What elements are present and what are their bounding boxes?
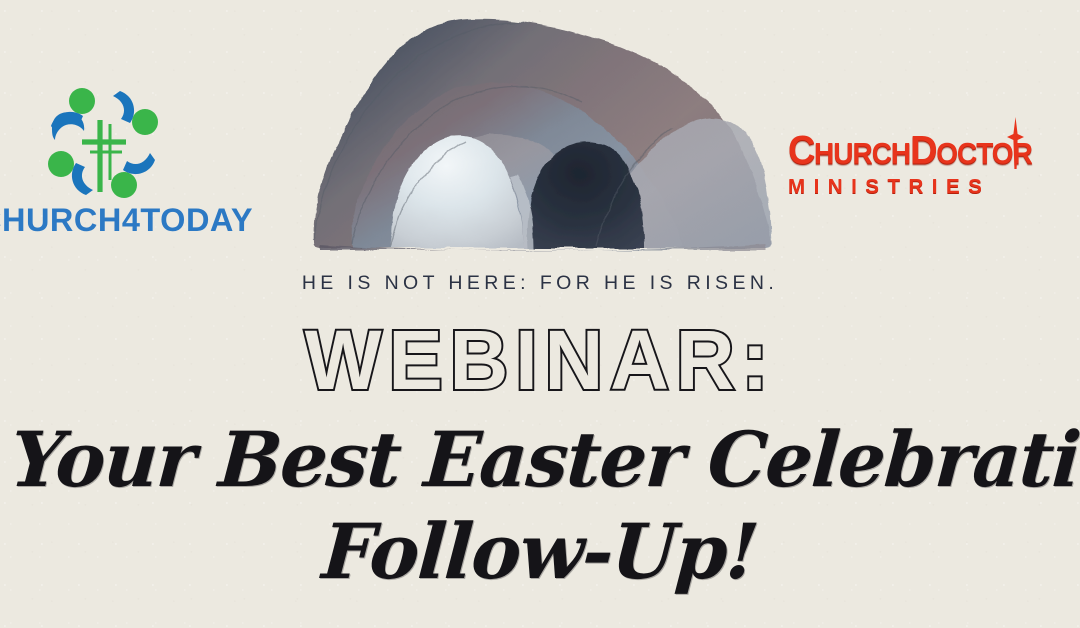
webinar-heading: WEBINAR: [16,318,1064,402]
church4today-logo-mark [38,84,168,202]
ministries-wordmark: MINISTRIES [788,175,1080,199]
church4today-wordmark: CHURCH4TODAY [0,202,278,239]
empty-tomb-watercolor [296,4,792,254]
church4today-logo[interactable]: CHURCH4TODAY [0,84,278,244]
church-doctor-word-church-small: HURCH [814,137,910,170]
church-doctor-ministries-logo[interactable]: CHURCHDOCTOR MINISTRIES [788,131,1080,209]
webinar-title-line-2: Follow-Up! [8,512,1072,592]
scripture-tagline: HE IS NOT HERE: FOR HE IS RISEN. [0,272,1080,295]
poster-canvas: CHURCH4TODAY CHURCHDOCTOR MINISTRIES [0,0,1080,628]
church-doctor-wordmark-line: CHURCHDOCTOR [788,131,1080,173]
cross-icon [1007,117,1024,169]
webinar-title-line-1: Your Best Easter Celebration [8,420,1072,500]
church-doctor-word-church: CHURCH [788,128,910,174]
